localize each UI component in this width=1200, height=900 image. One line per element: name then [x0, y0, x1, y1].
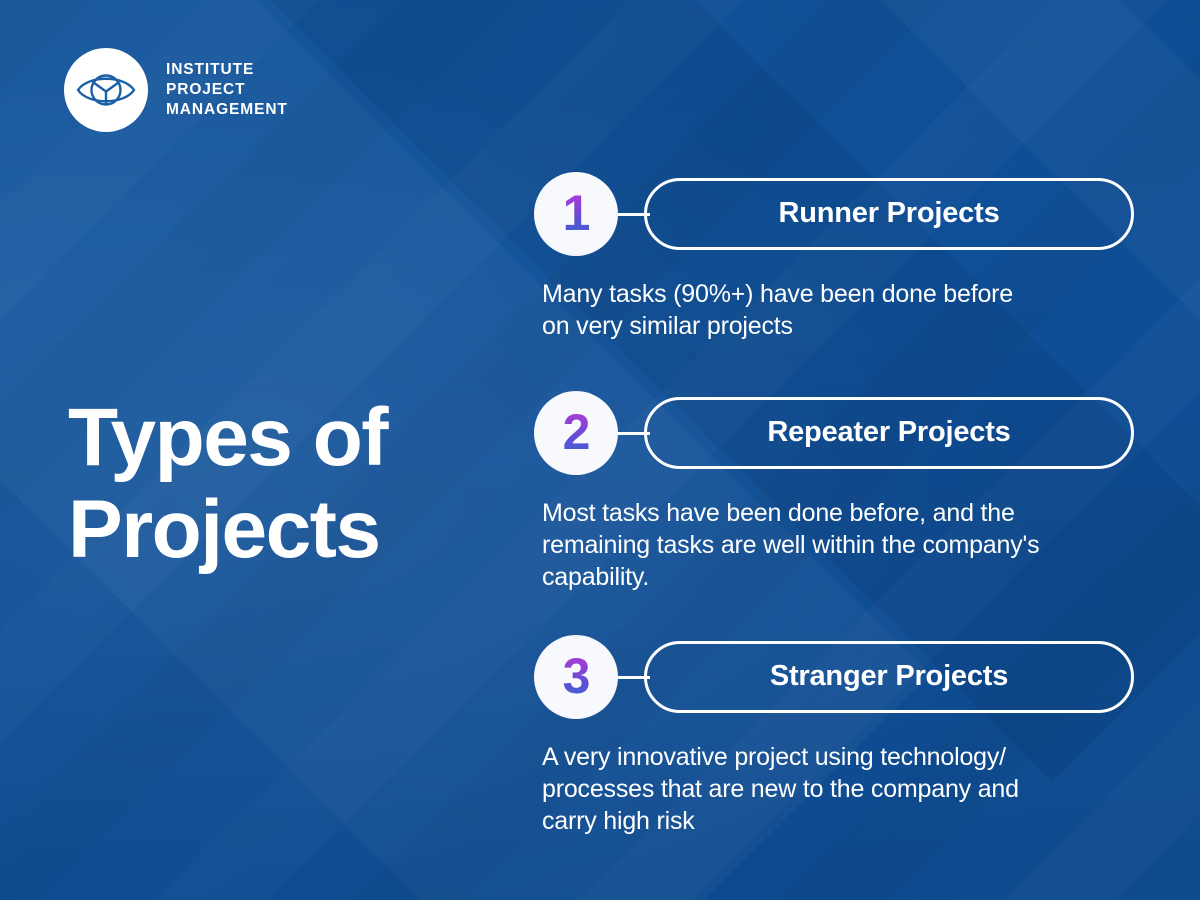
- list-item: 1 Runner Projects Many tasks (90%+) have…: [534, 172, 1134, 342]
- page-title-line-1: Types of: [68, 392, 498, 484]
- project-type-label: Runner Projects: [779, 197, 1000, 230]
- project-type-description: A very innovative project using technolo…: [542, 741, 1122, 837]
- project-types-list: 1 Runner Projects Many tasks (90%+) have…: [534, 0, 1134, 900]
- step-number-badge: 3: [534, 635, 618, 719]
- project-type-label: Stranger Projects: [770, 660, 1008, 693]
- step-number: 2: [563, 407, 590, 459]
- step-number: 3: [563, 651, 590, 703]
- project-type-pill[interactable]: Repeater Projects: [644, 397, 1134, 469]
- project-type-label: Repeater Projects: [767, 416, 1010, 449]
- list-item-header: 2 Repeater Projects: [534, 391, 1134, 475]
- slide-canvas: INSTITUTE PROJECT MANAGEMENT Types of Pr…: [0, 0, 1200, 900]
- logo-mark-circle: [64, 48, 148, 132]
- list-item-header: 1 Runner Projects: [534, 172, 1134, 256]
- page-title: Types of Projects: [68, 392, 498, 576]
- brand-logo: INSTITUTE PROJECT MANAGEMENT: [64, 48, 288, 132]
- list-item: 3 Stranger Projects A very innovative pr…: [534, 635, 1134, 837]
- page-title-line-2: Projects: [68, 484, 498, 576]
- project-type-description: Many tasks (90%+) have been done before …: [542, 278, 1122, 342]
- project-type-pill[interactable]: Stranger Projects: [644, 641, 1134, 713]
- logo-word-line-2: PROJECT: [166, 80, 288, 100]
- project-type-description: Most tasks have been done before, and th…: [542, 497, 1122, 593]
- list-item-header: 3 Stranger Projects: [534, 635, 1134, 719]
- step-number-badge: 2: [534, 391, 618, 475]
- eye-with-y-monogram-icon: [75, 59, 137, 121]
- step-number: 1: [563, 188, 590, 240]
- list-item: 2 Repeater Projects Most tasks have been…: [534, 391, 1134, 593]
- project-type-pill[interactable]: Runner Projects: [644, 178, 1134, 250]
- step-number-badge: 1: [534, 172, 618, 256]
- logo-wordmark: INSTITUTE PROJECT MANAGEMENT: [166, 60, 288, 120]
- logo-word-line-3: MANAGEMENT: [166, 100, 288, 120]
- logo-word-line-1: INSTITUTE: [166, 60, 288, 80]
